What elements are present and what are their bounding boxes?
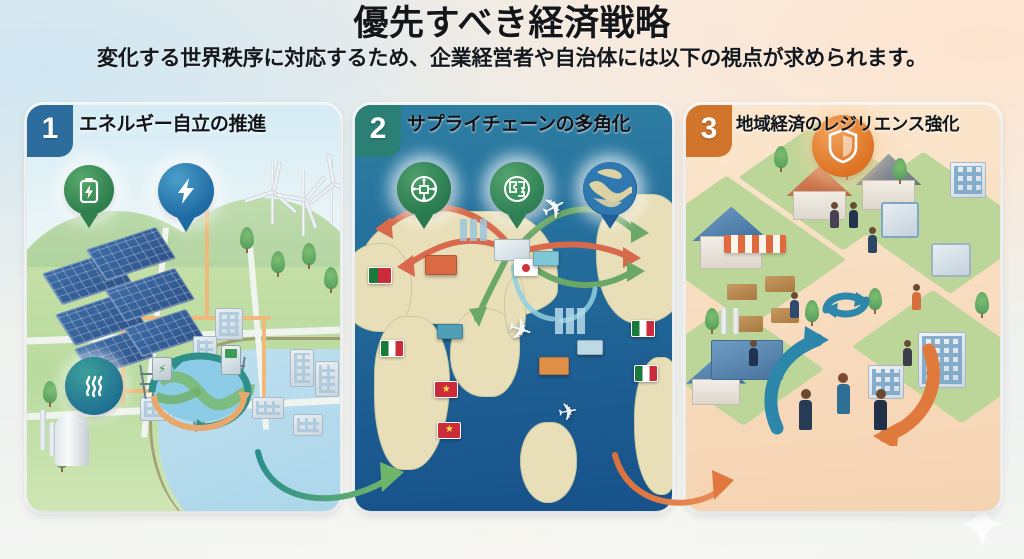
pin-geothermal[interactable] (65, 357, 123, 415)
battery-storage-unit (293, 414, 323, 436)
wind-turbine-1 (255, 162, 289, 224)
person-resident-2 (849, 202, 858, 228)
3d-printer-1 (881, 202, 919, 238)
flag-portugal (368, 267, 392, 284)
city-cluster-right (555, 308, 587, 334)
page-title: 優先すべき経済戦略 (0, 4, 1024, 44)
smoke-stack-2 (49, 422, 55, 456)
lightning-bolt-icon (174, 176, 198, 206)
pin-global[interactable] (583, 162, 637, 216)
shipping-container-5 (577, 340, 603, 355)
city-cluster-left (460, 219, 490, 241)
smoke-stack-1 (40, 410, 46, 450)
strategy-card-2[interactable]: ★ ★ ✈ ✈ ✈ (355, 105, 672, 511)
substation-building (215, 308, 243, 340)
tree (975, 292, 989, 314)
card-2-number: 2 (370, 114, 387, 144)
person-operator (912, 284, 921, 310)
flag-vietnam: ★ (434, 381, 458, 398)
card-2-badge: 2 (355, 105, 401, 157)
person-pedestrian (903, 340, 912, 366)
person-customer (749, 340, 758, 366)
strategy-card-1[interactable]: ⚡ (27, 105, 340, 511)
card-1-badge: 1 (27, 105, 73, 157)
person-businessman-briefcase (874, 389, 887, 430)
strategy-card-3[interactable]: 3 地域経済のレジリエンス強化 (686, 105, 1000, 511)
person-resident-1 (830, 202, 839, 228)
flag-vietnam-2: ★ (437, 422, 461, 439)
circuit-chip-icon (409, 174, 439, 204)
tree (43, 381, 57, 403)
strategy-cards: ⚡ (0, 105, 1024, 511)
geothermal-icon (79, 371, 109, 401)
shipping-container-1 (425, 255, 457, 275)
factory-hub (494, 239, 530, 261)
puzzle-icon (502, 174, 532, 204)
tree (240, 227, 254, 249)
workshop-building (950, 162, 986, 198)
pin-semiconductor[interactable] (397, 162, 451, 216)
factory-stack-1 (721, 308, 727, 334)
market-awning (724, 235, 786, 253)
charging-station-icon (221, 345, 241, 375)
pin-puzzle[interactable] (490, 162, 544, 216)
card-1-number: 1 (42, 114, 59, 144)
globe-cycle-graphic (130, 340, 270, 436)
shipping-container-4 (539, 357, 569, 375)
globe-icon (583, 162, 637, 216)
cooling-tower (55, 414, 89, 466)
flag-mexico-right-2 (634, 365, 658, 382)
card-3-badge: 3 (686, 105, 732, 157)
circular-flow-arrows (743, 316, 959, 446)
flag-mexico-left (380, 340, 404, 357)
pin-power[interactable] (158, 163, 214, 219)
flag-mexico-right (631, 320, 655, 337)
header: 優先すべき経済戦略 変化する世界秩序に対応するため、企業経営者や自治体には以下の… (0, 4, 1024, 71)
tree (774, 146, 788, 168)
shipping-container-3 (533, 251, 559, 266)
tree (271, 251, 285, 273)
tree (705, 308, 719, 330)
page-subtitle: 変化する世界秩序に対応するため、企業経営者や自治体には以下の視点が求められます。 (0, 46, 1024, 71)
card-2-title: サプライチェーンの多角化 (407, 115, 666, 136)
city-building-2 (315, 361, 339, 397)
person-technician (868, 227, 877, 253)
person-businessman-tablet (799, 389, 812, 430)
wind-turbine-3 (315, 154, 340, 224)
battery-unit-icon: ⚡ (152, 357, 172, 381)
card-3-number: 3 (701, 114, 718, 144)
city-building-1 (290, 349, 314, 387)
person-shopper (790, 292, 799, 318)
factory-stack-2 (733, 308, 739, 334)
produce-crate-2 (765, 276, 795, 292)
produce-crate-1 (727, 284, 757, 300)
pin-battery[interactable] (64, 165, 114, 215)
battery-icon (77, 177, 101, 203)
3d-printer-2 (931, 243, 971, 277)
cargo-plane-3: ✈ (556, 400, 580, 427)
infographic-canvas: 優先すべき経済戦略 変化する世界秩序に対応するため、企業経営者や自治体には以下の… (0, 0, 1024, 559)
card-3-title: 地域経済のレジリエンス強化 (736, 115, 994, 134)
card-1-title: エネルギー自立の推進 (79, 115, 334, 136)
shipping-container-2 (437, 324, 463, 339)
person-businesswoman (837, 373, 850, 414)
tree (324, 267, 338, 289)
